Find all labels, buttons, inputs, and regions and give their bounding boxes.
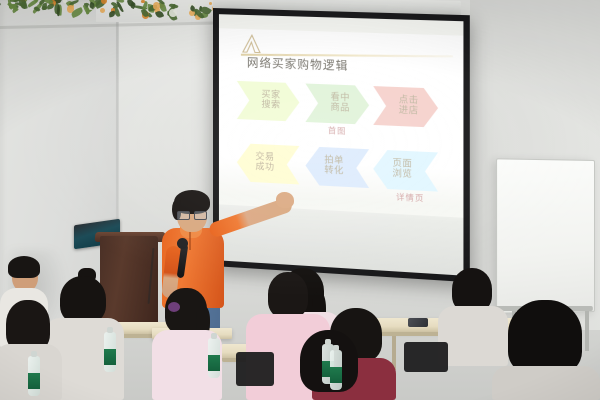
slide-step-label: 看中商品 xyxy=(324,94,350,115)
chair xyxy=(236,352,274,386)
vine-element xyxy=(153,2,161,10)
slide-step-sublabel: 详情页 xyxy=(396,192,424,205)
whiteboard-leg xyxy=(585,311,589,351)
vine-element xyxy=(0,3,2,9)
whiteboard xyxy=(496,158,595,313)
water-bottle xyxy=(330,350,342,390)
vine-element xyxy=(108,10,115,16)
water-bottle xyxy=(28,356,40,396)
chair xyxy=(404,342,448,372)
speaker-hand xyxy=(276,192,294,208)
water-bottle xyxy=(208,338,220,378)
vine-element xyxy=(19,0,29,10)
vine-element xyxy=(209,2,212,5)
slide-step-2-3: 页面浏览 xyxy=(373,149,438,191)
slide-step-label: 点击进店 xyxy=(392,96,418,117)
slide-step-label: 买家搜索 xyxy=(255,91,280,112)
polo-placket xyxy=(189,232,191,250)
slide-step-label: 拍单转化 xyxy=(324,157,350,178)
slide-step-sublabel: 首图 xyxy=(328,125,346,137)
slide-step-label: 交易成功 xyxy=(255,153,280,174)
slide-step-label: 页面浏览 xyxy=(392,160,418,181)
classroom-photo: 网络买家购物逻辑 买家搜索看中商品首图点击进店 交易成功拍单转化页面浏览详情页 xyxy=(0,0,600,400)
slide-step-1-3: 点击进店 xyxy=(373,86,438,128)
slide-step-2-2: 拍单转化 xyxy=(305,146,369,188)
microphone-head xyxy=(177,238,188,249)
eyeglasses-icon xyxy=(177,211,207,218)
slide-row-top: 买家搜索看中商品首图点击进店 xyxy=(219,80,463,137)
slide-title: 网络买家购物逻辑 xyxy=(247,54,349,74)
vine-element xyxy=(100,8,105,13)
water-bottle xyxy=(104,332,116,372)
slide-step-1-2: 看中商品 xyxy=(305,84,369,125)
vine-element xyxy=(101,0,107,4)
slide-step-1-1: 买家搜索 xyxy=(237,81,299,122)
vine-element xyxy=(169,9,176,16)
slide-step-2-1: 交易成功 xyxy=(237,143,299,184)
smartphone xyxy=(408,318,428,327)
mountain-peak-logo xyxy=(241,34,263,54)
